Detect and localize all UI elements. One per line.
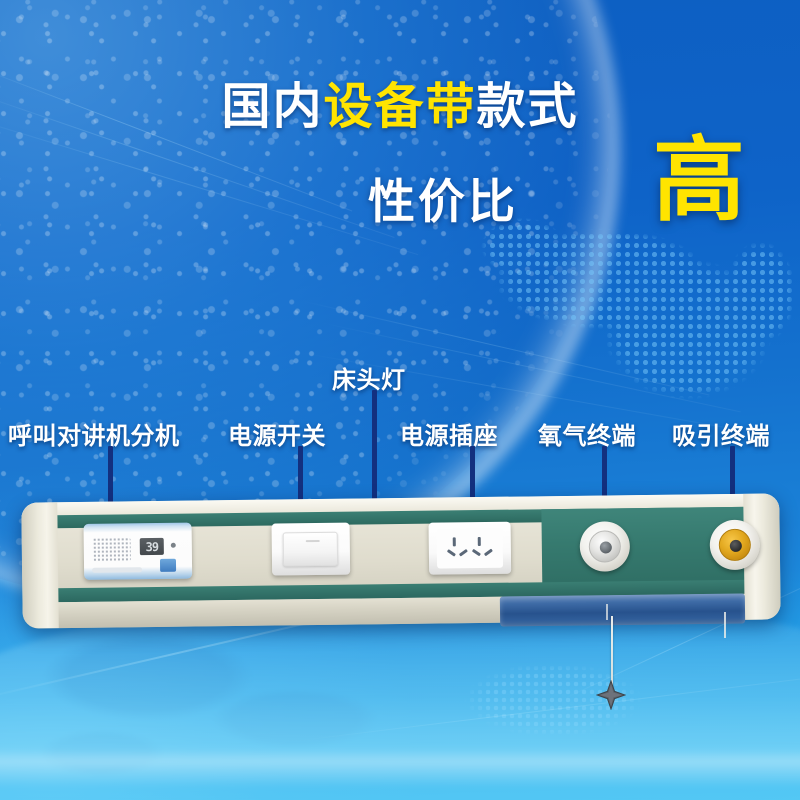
socket-pin-slot <box>459 549 468 557</box>
status-dot-icon <box>171 543 176 548</box>
nurse-call-intercom[interactable]: 39 <box>84 523 193 580</box>
banner-stage: 国内设备带款式 性价比 高 呼叫对讲机分机 电源开关 床头灯 电源插座 氧气终端… <box>0 0 800 800</box>
oxygen-terminal-ring <box>589 530 621 562</box>
socket-pin-slot <box>484 549 493 557</box>
suction-terminal-ring <box>719 529 751 561</box>
callout-label-oxygen: 氧气终端 <box>538 416 636 451</box>
socket-pin-slot <box>478 537 481 546</box>
callout-group: 呼叫对讲机分机 电源开关 床头灯 电源插座 氧气终端 吸引终端 <box>0 0 800 800</box>
switch-indicator-mark <box>306 540 320 542</box>
intercom-trim-bar <box>92 567 142 573</box>
socket-pin-slot <box>447 549 456 557</box>
socket-pin-slot <box>472 549 481 557</box>
callout-label-suction: 吸引终端 <box>672 416 770 451</box>
intercom-display: 39 <box>140 538 164 555</box>
pull-cord-secondary <box>724 612 726 638</box>
call-button-icon[interactable] <box>160 559 176 572</box>
callout-label-power-switch: 电源开关 <box>228 416 326 451</box>
pull-cord-weight-icon[interactable] <box>596 680 626 710</box>
pull-cord[interactable] <box>611 616 613 688</box>
callout-label-intercom: 呼叫对讲机分机 <box>8 416 180 451</box>
socket-pin-slot <box>453 537 456 546</box>
pull-cord-upper-segment <box>606 604 608 620</box>
socket-faceplate <box>437 528 503 569</box>
power-socket[interactable] <box>429 522 512 575</box>
power-switch[interactable] <box>272 523 351 576</box>
panel-endcap-left <box>21 502 59 628</box>
suction-terminal-port-icon <box>730 540 742 552</box>
switch-rocker[interactable] <box>283 532 338 567</box>
callout-label-power-socket: 电源插座 <box>400 416 498 451</box>
bed-lamp-light-strip[interactable] <box>500 594 745 627</box>
callout-label-bed-lamp: 床头灯 <box>332 360 406 395</box>
oxygen-terminal-port-icon <box>600 541 612 553</box>
speaker-grille-icon <box>93 537 131 561</box>
